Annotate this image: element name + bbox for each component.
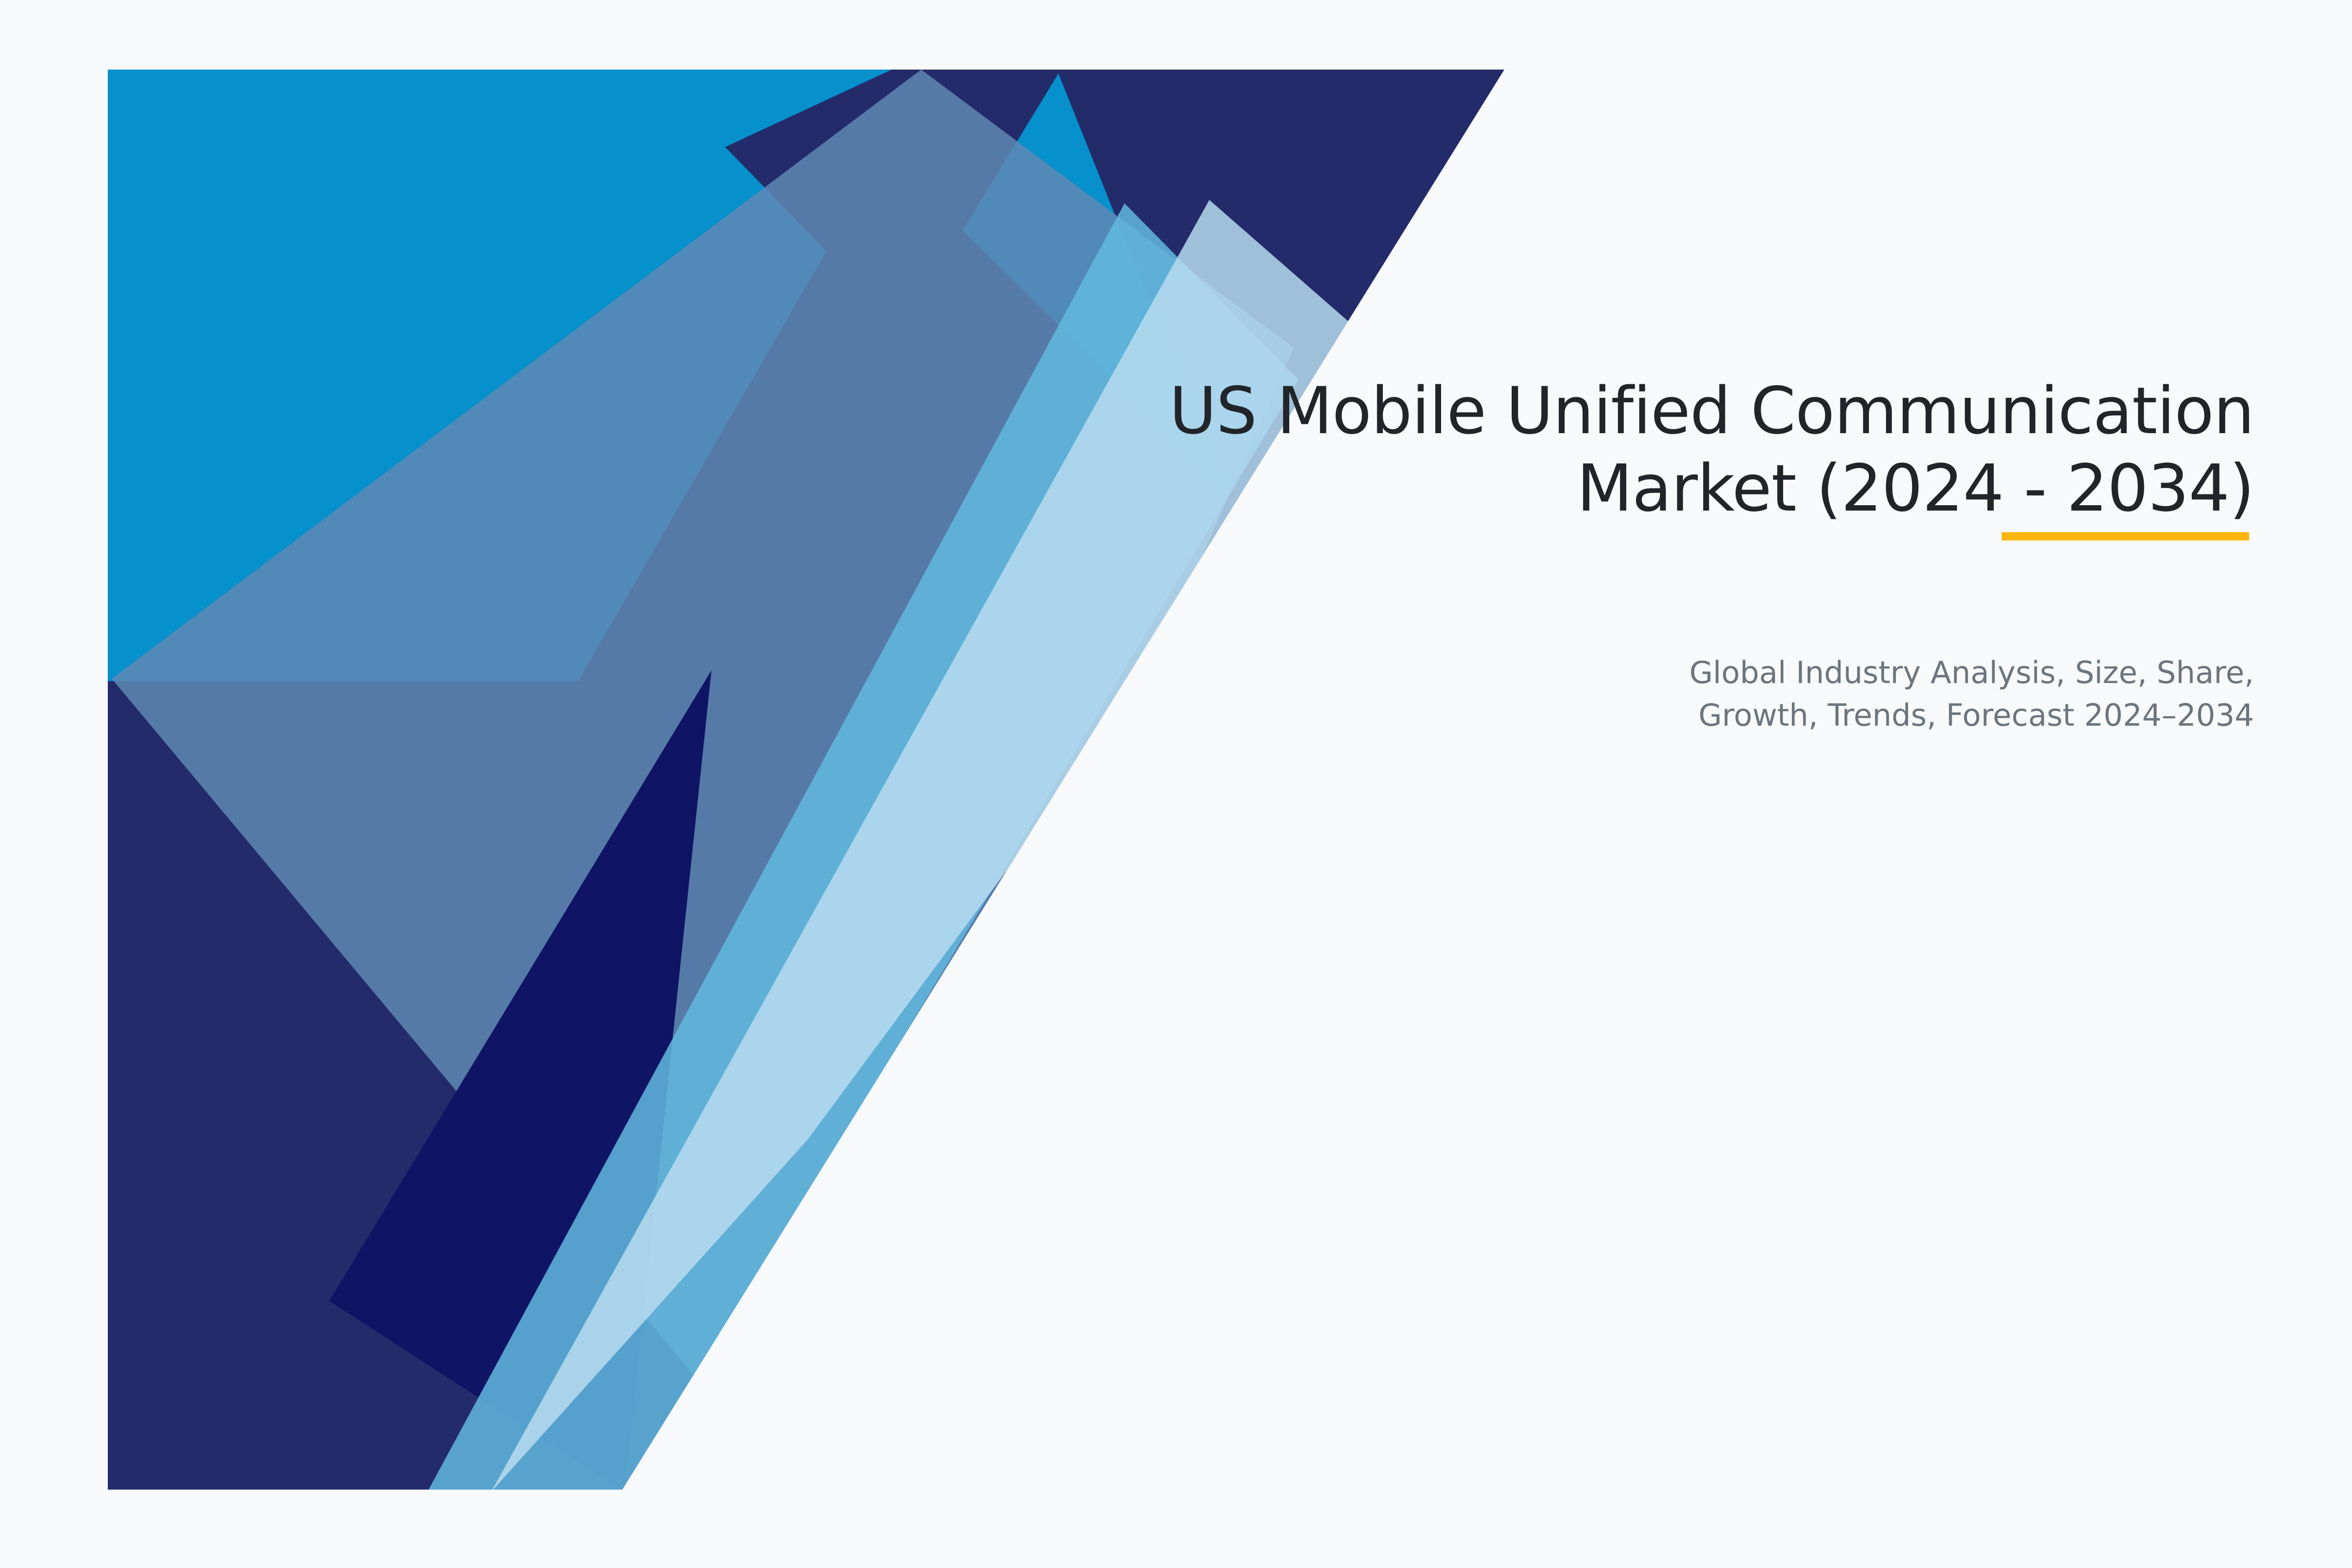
cover-text-block: US Mobile Unified Communication Market (… [931,372,2254,528]
page-subtitle: Global Industry Analysis, Size, Share, G… [931,652,2254,737]
abstract-geometric-banner [0,0,2352,1568]
page-subtitle-line-1: Global Industry Analysis, Size, Share, [1690,655,2254,690]
page-title-line-1: US Mobile Unified Communication [1169,373,2254,449]
page-title-line-2: Market (2024 - 2034) [1577,451,2254,526]
page-title: US Mobile Unified Communication Market (… [931,372,2254,528]
title-accent-underline [2002,532,2249,540]
page-subtitle-line-2: Growth, Trends, Forecast 2024–2034 [1698,697,2254,733]
report-cover-page: US Mobile Unified Communication Market (… [0,0,2352,1568]
